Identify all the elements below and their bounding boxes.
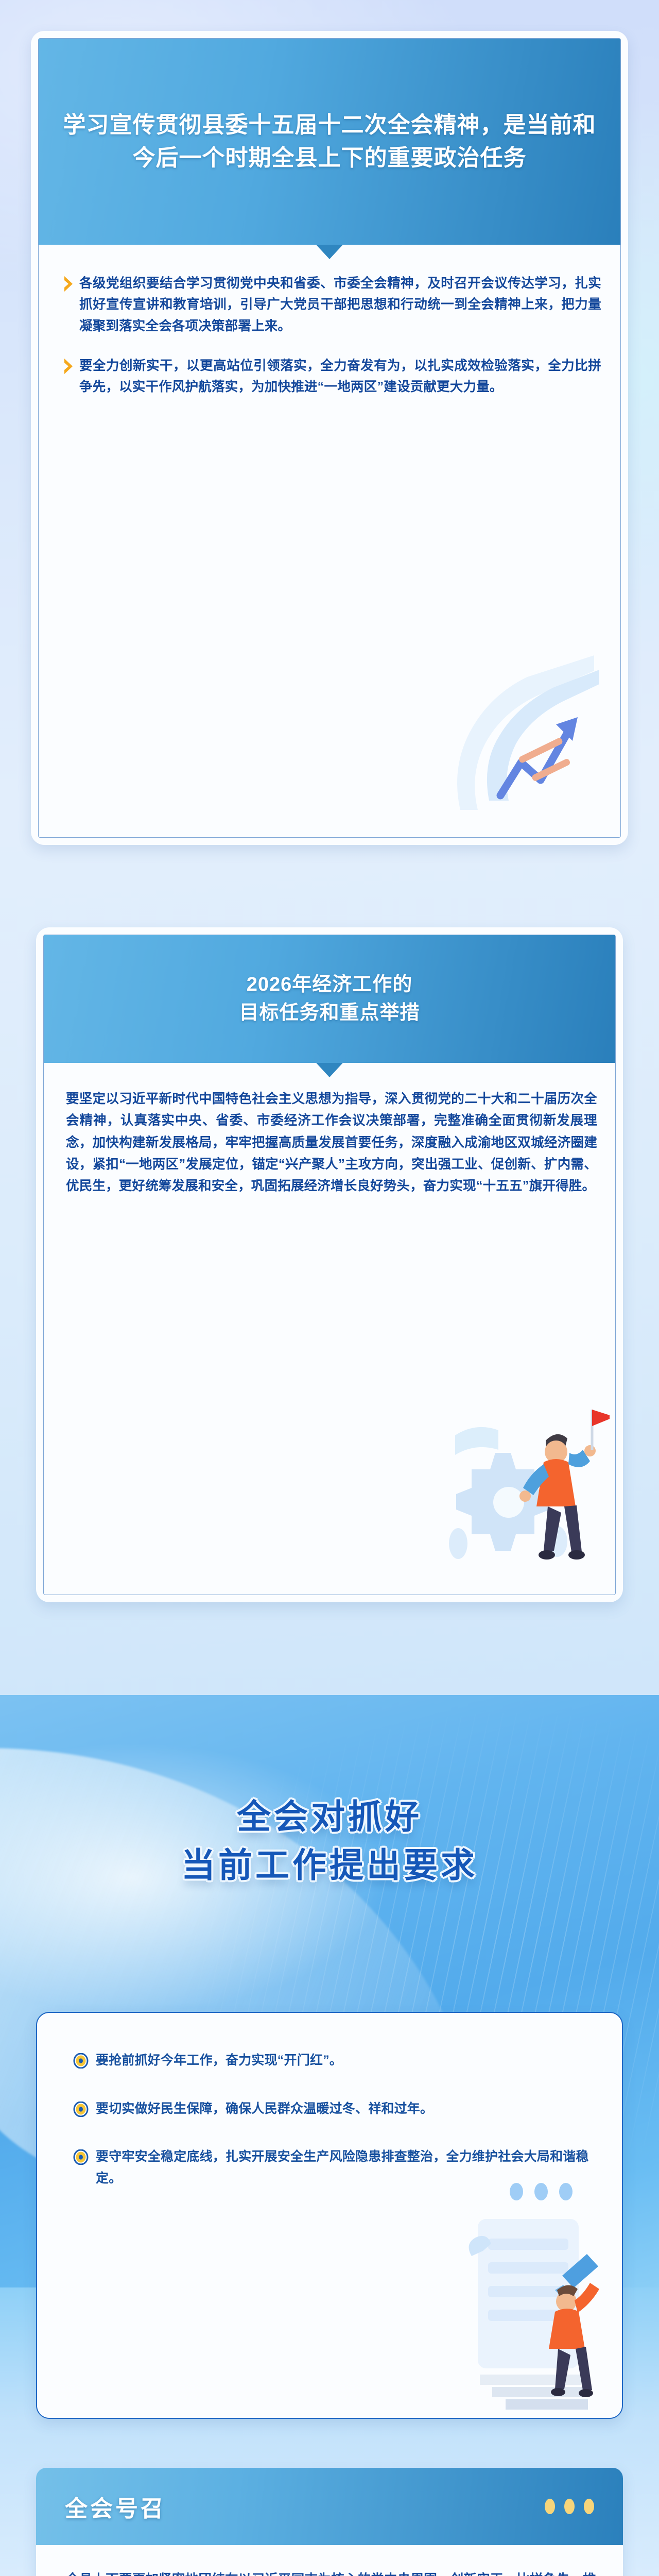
card1-title: 学习宣传贯彻县委十五届十二次全会精神，是当前和今后一个时期全县上下的重要政治任务 — [39, 109, 620, 175]
card1-body: 各级党组织要结合学习贯彻党中央和省委、市委全会精神，及时召开会议传达学习，扎实抓… — [63, 273, 601, 398]
chevron-right-icon — [63, 275, 74, 293]
headline-line-2: 当前工作提出要求 — [0, 1841, 659, 1890]
chevron-right-icon — [63, 358, 74, 375]
card4-paragraph: 全县上下要更加紧密地团结在以习近平同志为核心的党中央周围，创新实干、比拼争先，推… — [66, 2569, 596, 2576]
card4-title: 全会号召 — [65, 2490, 166, 2523]
growth-chart-illustration — [440, 640, 610, 831]
card1-ribbon-notch — [316, 245, 343, 259]
section-headline: 全会对抓好 当前工作提出要求 — [0, 1793, 659, 1889]
ring-bullet-icon — [73, 2053, 89, 2069]
card3-bullet-text: 要切实做好民生保障，确保人民群众温暖过冬、祥和过年。 — [96, 2098, 433, 2120]
card1-bullet-text: 要全力创新实干，以更高站位引领落实，全力奋发有为，以扎实成效检验落实，全力比拼争… — [79, 355, 601, 398]
card2-title-line1: 2026年经济工作的 — [247, 974, 413, 995]
card2-title: 2026年经济工作的 目标任务和重点举措 — [218, 971, 440, 1027]
card2-paragraph: 要坚定以习近平新时代中国特色社会主义思想为指导，深入贯彻党的二十大和二十届历次全… — [66, 1088, 597, 1197]
document-person-illustration — [456, 2194, 611, 2411]
card2-ribbon-notch — [316, 1063, 343, 1077]
card2-title-line2: 目标任务和重点举措 — [239, 1002, 420, 1024]
card4-decorative-dots — [545, 2499, 594, 2514]
headline-line-1: 全会对抓好 — [0, 1793, 659, 1841]
ring-bullet-icon — [73, 2102, 89, 2117]
ring-bullet-icon — [73, 2149, 89, 2165]
card-2026-economy-goals: 2026年经济工作的 目标任务和重点举措 要坚定以习近平新时代中国特色社会主义思… — [36, 927, 623, 1602]
card2-header-ribbon: 2026年经济工作的 目标任务和重点举措 — [44, 935, 615, 1063]
gear-person-flag-illustration — [424, 1374, 610, 1590]
card3-bullet-text: 要抢前抓好今年工作，奋力实现“开门红”。 — [96, 2050, 342, 2072]
card-plenary-call: 全会号召 全县上下要更加紧密地团结在以习近平同志为核心的党中央周围，创新实干、比… — [36, 2468, 623, 2576]
card4-header: 全会号召 — [36, 2468, 623, 2545]
card-study-publicize: 学习宣传贯彻县委十五届十二次全会精神，是当前和今后一个时期全县上下的重要政治任务… — [31, 31, 628, 845]
card-current-work-requirements: 要抢前抓好今年工作，奋力实现“开门红”。 要切实做好民生保障，确保人民群众温暖过… — [36, 2012, 623, 2419]
card1-bullet-item: 要全力创新实干，以更高站位引领落实，全力奋发有为，以扎实成效检验落实，全力比拼争… — [63, 355, 601, 398]
card1-header-ribbon: 学习宣传贯彻县委十五届十二次全会精神，是当前和今后一个时期全县上下的重要政治任务 — [39, 39, 620, 245]
card3-bullet-item: 要抢前抓好今年工作，奋力实现“开门红”。 — [73, 2050, 591, 2072]
card2-body: 要坚定以习近平新时代中国特色社会主义思想为指导，深入贯彻党的二十大和二十届历次全… — [66, 1088, 597, 1197]
card1-bullet-text: 各级党组织要结合学习贯彻党中央和省委、市委全会精神，及时召开会议传达学习，扎实抓… — [79, 273, 601, 337]
card3-bullet-item: 要切实做好民生保障，确保人民群众温暖过冬、祥和过年。 — [73, 2098, 591, 2120]
card3-body: 要抢前抓好今年工作，奋力实现“开门红”。 要切实做好民生保障，确保人民群众温暖过… — [73, 2050, 591, 2189]
card4-body: 全县上下要更加紧密地团结在以习近平同志为核心的党中央周围，创新实干、比拼争先，推… — [66, 2569, 596, 2576]
card1-bullet-item: 各级党组织要结合学习贯彻党中央和省委、市委全会精神，及时召开会议传达学习，扎实抓… — [63, 273, 601, 337]
